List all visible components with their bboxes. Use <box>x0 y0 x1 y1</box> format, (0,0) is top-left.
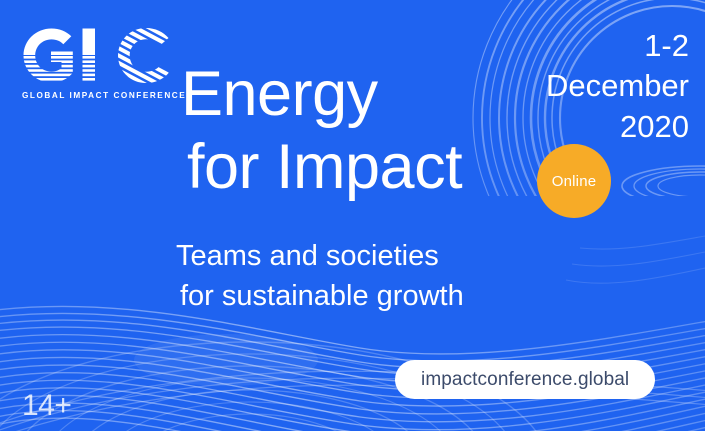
logo-block: GLOBAL IMPACT CONFERENCE <box>22 27 174 100</box>
website-url-label: impactconference.global <box>421 369 629 391</box>
logo-tagline: GLOBAL IMPACT CONFERENCE <box>22 91 174 100</box>
conference-promo-banner: GLOBAL IMPACT CONFERENCE Energy for Impa… <box>0 0 705 431</box>
website-url-pill[interactable]: impactconference.global <box>395 360 655 399</box>
headline-line-2: for Impact <box>181 131 462 204</box>
subtitle-line-1: Teams and societies <box>176 236 464 276</box>
event-date-month: December <box>546 66 689 106</box>
subtitle-line-2: for sustainable growth <box>176 276 464 316</box>
event-date: 1-2 December 2020 <box>546 26 689 147</box>
page-title: Energy for Impact <box>181 58 462 204</box>
status-badge-online: Online <box>537 144 611 218</box>
event-date-year: 2020 <box>546 107 689 147</box>
headline-line-1: Energy <box>181 58 462 131</box>
status-badge-label: Online <box>552 173 597 190</box>
subtitle: Teams and societies for sustainable grow… <box>176 236 464 316</box>
event-date-days: 1-2 <box>546 26 689 66</box>
gic-striped-logomark-icon <box>22 27 170 84</box>
age-rating: 14+ <box>22 389 71 423</box>
